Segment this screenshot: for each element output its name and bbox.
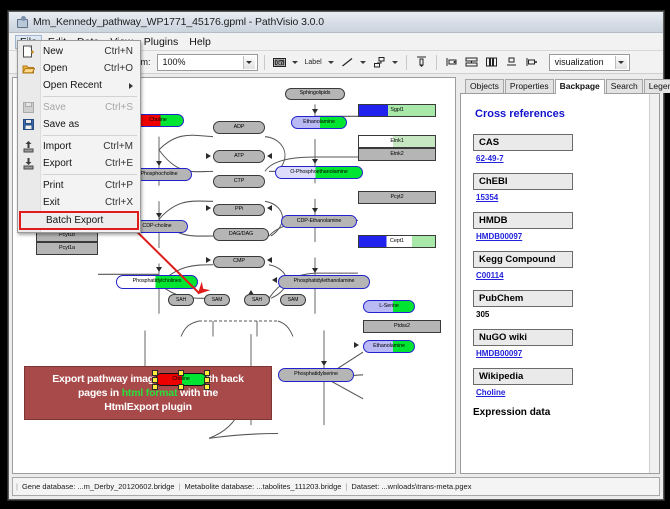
menu-item-label: Exit [43,197,60,208]
menu-item-save: Save Ctrl+S [18,99,140,116]
submenu-arrow-icon [129,83,140,89]
menu-item-label: Print [43,180,64,191]
menu-separator-1 [43,96,137,97]
menu-item-label: Export [43,158,72,169]
app-window: Mm_Kennedy_pathway_WP1771_45176.gpml - P… [8,11,664,500]
menu-item-new[interactable]: New Ctrl+N [18,43,140,60]
menu-item-import[interactable]: Import Ctrl+M [18,138,140,155]
menu-item-save-as[interactable]: Save as [18,116,140,133]
menu-item-label: Save [43,102,66,113]
export-icon [22,157,35,170]
menu-item-open-recent[interactable]: Open Recent [18,77,140,94]
menu-separator-3 [43,174,137,175]
menu-item-accel: Ctrl+P [105,180,140,191]
folder-icon [22,62,35,75]
menu-item-batch-export[interactable]: Batch Export [19,211,139,230]
menu-item-accel: Ctrl+S [105,102,140,113]
new-file-icon [22,45,35,58]
menu-item-accel: Ctrl+N [104,46,140,57]
menu-item-label: Open [43,63,67,74]
menu-item-accel: Ctrl+O [104,63,140,74]
import-icon [22,140,35,153]
menu-item-export[interactable]: Export Ctrl+E [18,155,140,172]
file-menu-popup[interactable]: New Ctrl+N Open Ctrl+O Open Recent Save … [17,40,141,233]
menu-item-label: Open Recent [43,80,102,91]
menu-item-label: Import [43,141,71,152]
menu-separator-2 [43,135,137,136]
menu-item-accel: Ctrl+X [105,197,140,208]
menu-item-exit[interactable]: Exit Ctrl+X [18,194,140,211]
menu-item-label: Save as [43,119,79,130]
save-icon [22,101,35,114]
menu-item-label: New [43,46,63,57]
menu-item-print[interactable]: Print Ctrl+P [18,177,140,194]
menu-item-accel: Ctrl+E [105,158,140,169]
menu-item-accel: Ctrl+M [103,141,140,152]
menu-item-open[interactable]: Open Ctrl+O [18,60,140,77]
save-as-icon [22,118,35,131]
menu-item-label: Batch Export [46,215,103,226]
